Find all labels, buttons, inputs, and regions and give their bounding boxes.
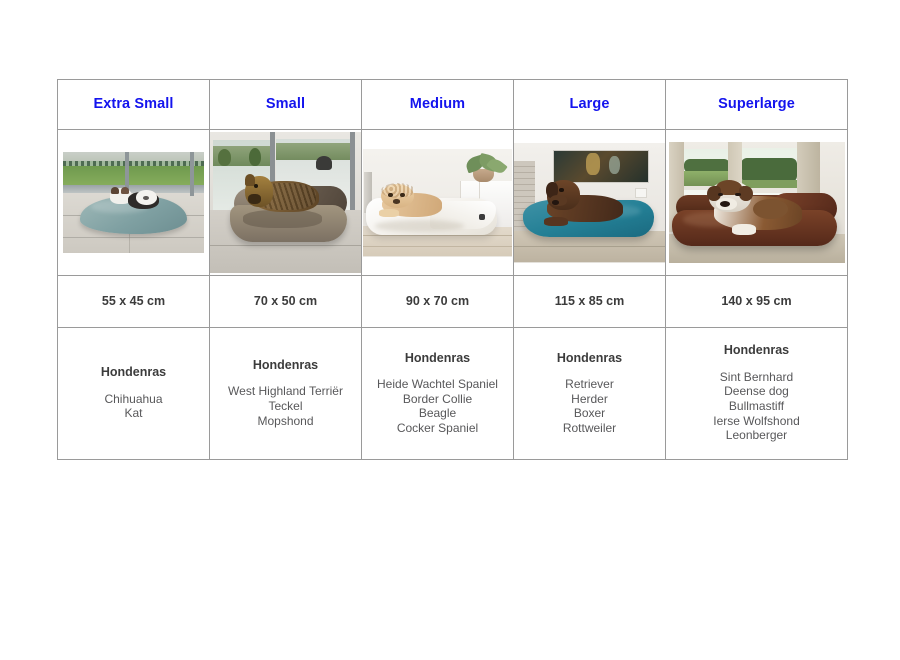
- breeds-list: ChihuahuaKat: [58, 392, 209, 421]
- dimensions-cell-small: 70 x 50 cm: [210, 276, 362, 328]
- photo-plank-line: [514, 246, 665, 247]
- dimensions-cell-superlarge: 140 x 95 cm: [666, 276, 848, 328]
- breed-item: Beagle: [362, 406, 513, 421]
- breeds-title: Hondenras: [514, 352, 665, 365]
- photo-tile-line: [210, 245, 361, 246]
- breed-item: Border Collie: [362, 392, 513, 407]
- header-cell-small: Small: [210, 80, 362, 130]
- breeds-title: Hondenras: [362, 352, 513, 365]
- photo-dog-nose: [552, 200, 560, 205]
- photo-tree: [218, 149, 232, 166]
- breeds-list: Heide Wachtel SpanielBorder CollieBeagle…: [362, 377, 513, 435]
- photo-dog-eye: [559, 188, 564, 192]
- header-cell-medium: Medium: [362, 80, 514, 130]
- table-photo-row: [58, 130, 848, 276]
- breed-item: Chihuahua: [58, 392, 209, 407]
- photo-cell-small: [210, 130, 362, 276]
- photo-wall-outlet: [635, 188, 648, 198]
- breed-item: Teckel: [210, 399, 361, 414]
- breeds-cell-medium: Hondenras Heide Wachtel SpanielBorder Co…: [362, 328, 514, 460]
- dimensions-cell-medium: 90 x 70 cm: [362, 276, 514, 328]
- breed-item: Kat: [58, 406, 209, 421]
- photo-wrapper: [362, 130, 513, 275]
- photo-window-mullion: [350, 132, 355, 214]
- dimensions-label: 90 x 70 cm: [362, 295, 513, 308]
- photo-hedge: [741, 158, 797, 182]
- photo-tile-line: [63, 237, 204, 238]
- table-header-row: Extra Small Small Medium Large Superlarg…: [58, 80, 848, 130]
- breeds-list: Sint BernhardDeense dogBullmastiffIerse …: [666, 370, 847, 443]
- photo-plank-line: [363, 246, 512, 247]
- size-header-label: Extra Small: [58, 97, 209, 112]
- breed-item: Herder: [514, 392, 665, 407]
- header-cell-extra-small: Extra Small: [58, 80, 210, 130]
- photo-wrapper: [666, 130, 847, 275]
- breed-item: Retriever: [514, 377, 665, 392]
- breed-item: Ierse Wolfshond: [666, 414, 847, 429]
- breed-item: West Highland Terriër: [210, 384, 361, 399]
- breeds-cell-superlarge: Hondenras Sint BernhardDeense dogBullmas…: [666, 328, 848, 460]
- product-photo-medium: [363, 149, 512, 257]
- breed-item: Leonberger: [666, 428, 847, 443]
- photo-cell-extra-small: [58, 130, 210, 276]
- header-cell-superlarge: Superlarge: [666, 80, 848, 130]
- photo-dog-ear: [739, 186, 753, 202]
- size-header-label: Large: [514, 97, 665, 112]
- photo-tree: [249, 148, 261, 166]
- breed-item: Boxer: [514, 406, 665, 421]
- table-dimensions-row: 55 x 45 cm 70 x 50 cm 90 x 70 cm 115 x 8…: [58, 276, 848, 328]
- breeds-list: RetrieverHerderBoxerRottweiler: [514, 377, 665, 435]
- breeds-cell-small: Hondenras West Highland TerriërTeckelMop…: [210, 328, 362, 460]
- photo-bed-shadow: [375, 220, 464, 232]
- breed-item: Cocker Spaniel: [362, 421, 513, 436]
- breeds-title: Hondenras: [58, 366, 209, 379]
- product-photo-large: [514, 143, 665, 263]
- photo-dog-snout: [248, 194, 262, 204]
- photo-artwork-figure: [586, 153, 600, 175]
- photo-framed-artwork: [553, 150, 649, 183]
- photo-wrapper: [58, 130, 209, 275]
- product-photo-superlarge: [669, 142, 845, 263]
- breed-item: Heide Wachtel Spaniel: [362, 377, 513, 392]
- dimensions-label: 140 x 95 cm: [666, 295, 847, 308]
- dimensions-label: 115 x 85 cm: [514, 295, 665, 308]
- breed-item: Mopshond: [210, 414, 361, 429]
- photo-dog-ear: [111, 187, 119, 194]
- photo-dog-paw: [732, 224, 757, 235]
- photo-landscape: [276, 143, 352, 160]
- photo-lawn: [63, 166, 204, 186]
- size-header-label: Superlarge: [666, 97, 847, 112]
- photo-bed-inner: [243, 210, 322, 228]
- breeds-list: West Highland TerriërTeckelMopshond: [210, 384, 361, 428]
- breeds-cell-large: Hondenras RetrieverHerderBoxerRottweiler: [514, 328, 666, 460]
- dimensions-cell-large: 115 x 85 cm: [514, 276, 666, 328]
- size-header-label: Small: [210, 97, 361, 112]
- breed-item: Sint Bernhard: [666, 370, 847, 385]
- photo-wrapper: [210, 130, 361, 275]
- dimensions-cell-extra-small: 55 x 45 cm: [58, 276, 210, 328]
- breeds-title: Hondenras: [210, 359, 361, 372]
- photo-bed-tag: [479, 214, 485, 219]
- photo-dog-eye: [400, 193, 404, 197]
- breed-item: Rottweiler: [514, 421, 665, 436]
- photo-dog-nose: [393, 199, 400, 203]
- breed-item: Bullmastiff: [666, 399, 847, 414]
- photo-cell-large: [514, 130, 666, 276]
- photo-artwork-figure: [609, 156, 620, 174]
- photo-plank-line: [363, 235, 512, 236]
- photo-dog-ear: [121, 187, 129, 194]
- photo-window-mullion: [190, 152, 194, 196]
- table-breeds-row: Hondenras ChihuahuaKat Hondenras West Hi…: [58, 328, 848, 460]
- size-header-label: Medium: [362, 97, 513, 112]
- photo-wrapper: [514, 130, 665, 275]
- photo-cell-superlarge: [666, 130, 848, 276]
- header-cell-large: Large: [514, 80, 666, 130]
- breeds-cell-extra-small: Hondenras ChihuahuaKat: [58, 328, 210, 460]
- breeds-title: Hondenras: [666, 344, 847, 357]
- photo-cell-medium: [362, 130, 514, 276]
- dog-bed-size-table: Extra Small Small Medium Large Superlarg…: [57, 79, 848, 460]
- page-canvas: Extra Small Small Medium Large Superlarg…: [0, 0, 900, 660]
- photo-terrace-object: [316, 156, 333, 170]
- breed-item: Deense dog: [666, 384, 847, 399]
- photo-dog-paw: [544, 217, 568, 227]
- dimensions-label: 70 x 50 cm: [210, 295, 361, 308]
- product-photo-extra-small: [63, 152, 204, 253]
- dimensions-label: 55 x 45 cm: [58, 295, 209, 308]
- photo-dog-paw: [379, 209, 398, 217]
- product-photo-small: [210, 132, 361, 273]
- photo-dog-eye: [388, 193, 392, 197]
